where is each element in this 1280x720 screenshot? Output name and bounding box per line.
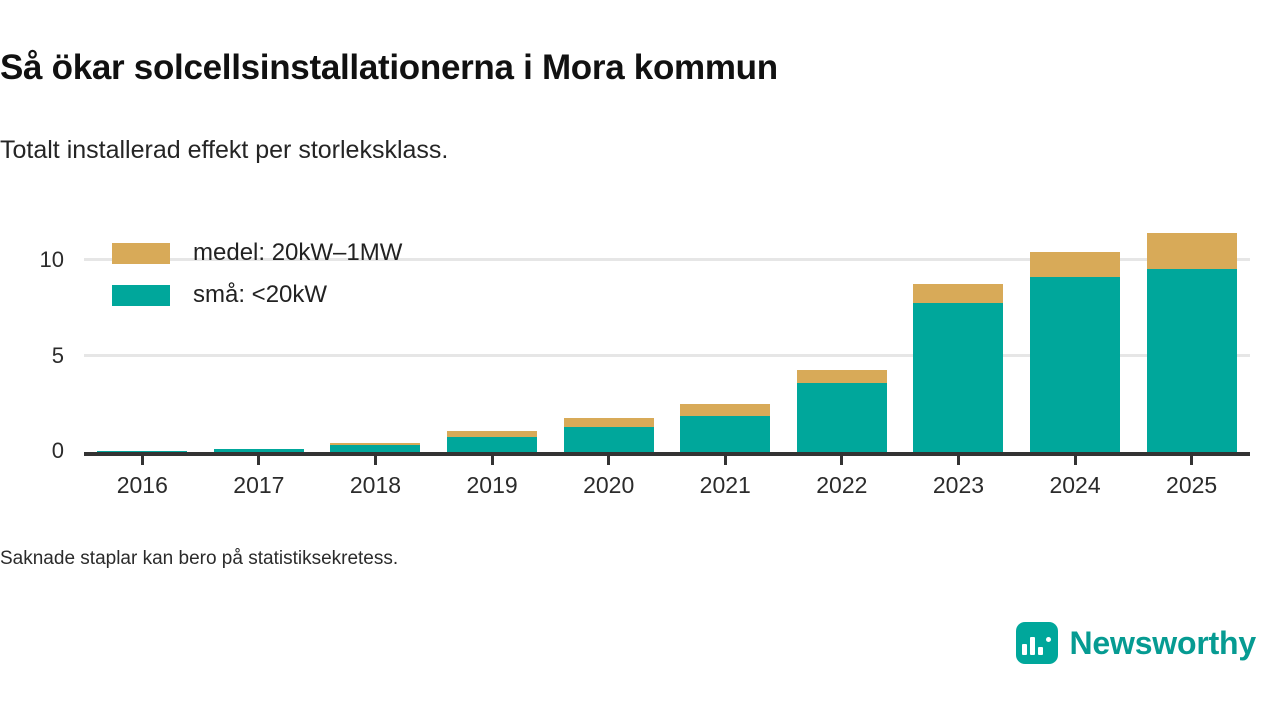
bar-stack[interactable] <box>330 443 420 452</box>
legend-item-sma[interactable]: små: <20kW <box>112 274 402 316</box>
x-tick-label-2025: 2025 <box>1133 472 1250 499</box>
bar-segment-medel[interactable] <box>797 370 887 383</box>
bar-stack[interactable] <box>1030 252 1120 452</box>
bar-segment-medel[interactable] <box>564 418 654 428</box>
bar-segment-medel[interactable] <box>680 404 770 415</box>
x-tick-mark-2018 <box>374 452 377 465</box>
bar-stack[interactable] <box>913 284 1003 452</box>
legend: medel: 20kW–1MWsmå: <20kW <box>112 232 402 316</box>
legend-swatch-medel <box>112 243 170 264</box>
x-tick-mark-2023 <box>957 452 960 465</box>
x-tick-mark-2017 <box>257 452 260 465</box>
x-tick-mark-2025 <box>1190 452 1193 465</box>
logo-wordmark: Newsworthy <box>1070 625 1257 662</box>
x-tick-label-2021: 2021 <box>667 472 784 499</box>
x-tick-label-2019: 2019 <box>434 472 551 499</box>
bar-group-2025[interactable]: 2025 <box>1133 225 1250 452</box>
bar-group-2021[interactable]: 2021 <box>667 225 784 452</box>
legend-swatch-sma <box>112 285 170 306</box>
bar-stack[interactable] <box>680 404 770 452</box>
x-tick-label-2023: 2023 <box>900 472 1017 499</box>
y-tick-label-5: 5 <box>8 345 64 367</box>
bar-segment-sma[interactable] <box>330 445 420 452</box>
y-tick-label-0: 0 <box>8 440 64 462</box>
x-tick-mark-2021 <box>724 452 727 465</box>
legend-label-medel: medel: 20kW–1MW <box>193 239 402 267</box>
x-tick-label-2020: 2020 <box>550 472 667 499</box>
newsworthy-logo[interactable]: Newsworthy <box>1016 622 1257 664</box>
bar-stack[interactable] <box>797 370 887 452</box>
bar-group-2023[interactable]: 2023 <box>900 225 1017 452</box>
bar-chart-icon <box>1016 622 1058 664</box>
bar-segment-sma[interactable] <box>913 303 1003 452</box>
x-tick-mark-2020 <box>607 452 610 465</box>
bar-group-2024[interactable]: 2024 <box>1017 225 1134 452</box>
y-tick-label-10: 10 <box>8 249 64 271</box>
chart-page: Så ökar solcellsinstallationerna i Mora … <box>0 0 1280 720</box>
bar-stack[interactable] <box>1147 233 1237 452</box>
x-tick-label-2022: 2022 <box>784 472 901 499</box>
x-tick-label-2024: 2024 <box>1017 472 1134 499</box>
footnote: Saknade staplar kan bero på statistiksek… <box>0 548 398 570</box>
bar-segment-medel[interactable] <box>1147 233 1237 269</box>
x-tick-mark-2024 <box>1074 452 1077 465</box>
legend-label-sma: små: <20kW <box>193 281 327 309</box>
page-title: Så ökar solcellsinstallationerna i Mora … <box>0 47 1240 89</box>
bar-stack[interactable] <box>447 431 537 452</box>
bar-group-2022[interactable]: 2022 <box>784 225 901 452</box>
bar-group-2020[interactable]: 2020 <box>550 225 667 452</box>
bar-group-2019[interactable]: 2019 <box>434 225 551 452</box>
x-tick-label-2016: 2016 <box>84 472 201 499</box>
bar-stack[interactable] <box>564 418 654 452</box>
x-tick-mark-2019 <box>491 452 494 465</box>
bar-segment-medel[interactable] <box>1030 252 1120 277</box>
bar-segment-sma[interactable] <box>1147 269 1237 452</box>
bar-segment-sma[interactable] <box>564 427 654 452</box>
page-subtitle: Totalt installerad effekt per storlekskl… <box>0 134 1240 166</box>
x-tick-label-2017: 2017 <box>201 472 318 499</box>
x-tick-mark-2022 <box>840 452 843 465</box>
bar-segment-sma[interactable] <box>1030 277 1120 452</box>
bar-segment-sma[interactable] <box>680 416 770 452</box>
bar-segment-sma[interactable] <box>447 437 537 452</box>
bar-segment-medel[interactable] <box>913 284 1003 303</box>
legend-item-medel[interactable]: medel: 20kW–1MW <box>112 232 402 274</box>
x-tick-mark-2016 <box>141 452 144 465</box>
bar-segment-sma[interactable] <box>797 383 887 452</box>
x-tick-label-2018: 2018 <box>317 472 434 499</box>
